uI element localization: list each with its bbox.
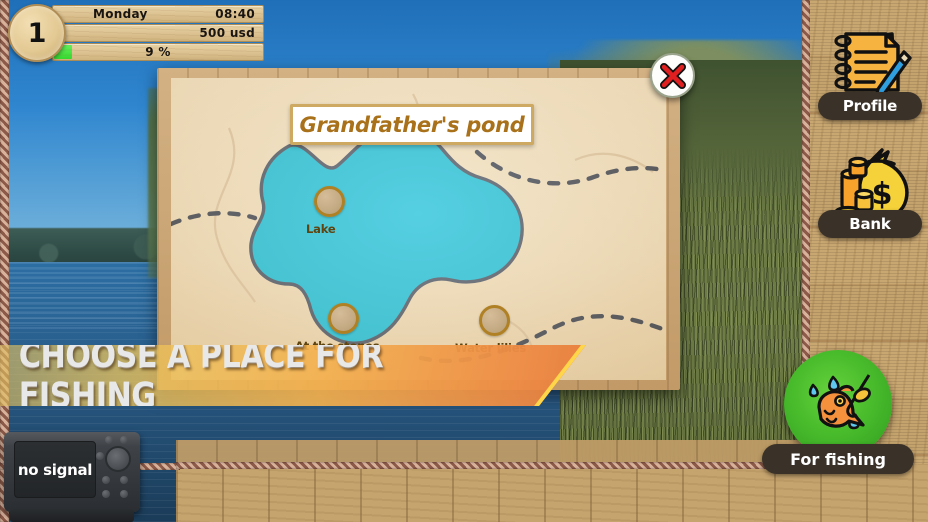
spot-label-lake: Lake xyxy=(306,222,335,236)
fish-rod-icon xyxy=(797,363,879,445)
sidebar-button-bank[interactable]: $ Bank xyxy=(816,140,924,238)
location-map-panel: Grandfather's pond Lake At the stones Wa… xyxy=(157,68,680,390)
sidebar-button-profile[interactable]: Profile xyxy=(816,22,924,120)
fish-finder-button-3[interactable] xyxy=(96,452,104,460)
fish-finder-body: no signal xyxy=(4,432,140,512)
spot-dot-icon[interactable] xyxy=(328,303,359,334)
fish-finder-button-7[interactable] xyxy=(102,490,110,498)
hud-progress-bar: 9 % xyxy=(52,43,264,61)
fish-finder-button-4[interactable] xyxy=(120,476,128,484)
hud-progress-value: 9 % xyxy=(53,45,263,59)
hud-bars: Monday 08:40 500 usd 9 % xyxy=(52,5,264,62)
for-fishing-circle[interactable] xyxy=(784,350,892,458)
hud-weekday: Monday xyxy=(93,7,148,21)
bank-label: Bank xyxy=(849,215,890,233)
profile-label: Profile xyxy=(843,97,897,115)
profile-label-pill: Profile xyxy=(818,92,922,120)
fish-finder-button-6[interactable] xyxy=(120,490,128,498)
close-button[interactable] xyxy=(650,53,695,98)
for-fishing-label-pill: For fishing xyxy=(762,444,914,474)
hud-date-bar: Monday 08:40 xyxy=(52,5,264,23)
fish-finder-status: no signal xyxy=(18,461,92,479)
day-badge: 1 xyxy=(8,4,66,62)
fish-finder-device[interactable]: no signal xyxy=(4,432,140,522)
spot-marker-lake[interactable]: Lake xyxy=(314,186,345,217)
fish-finder-screen: no signal xyxy=(14,441,96,498)
instruction-text: CHOOSE A PLACE FOR FISHING xyxy=(0,336,504,416)
hud-money: 500 usd xyxy=(199,26,255,40)
fish-finder-dpad[interactable] xyxy=(105,446,131,472)
map-parchment: Grandfather's pond Lake At the stones Wa… xyxy=(171,78,666,380)
pond-title-plaque: Grandfather's pond xyxy=(290,104,534,145)
spot-marker-at-the-stones[interactable]: At the stones xyxy=(328,303,359,334)
pond-title: Grandfather's pond xyxy=(300,113,525,137)
spot-dot-icon[interactable] xyxy=(479,305,510,336)
rope-border-mid xyxy=(176,462,816,469)
fish-finder-button-2[interactable] xyxy=(105,436,113,444)
game-screen: 1 Monday 08:40 500 usd 9 % xyxy=(0,0,928,522)
fish-finder-button-5[interactable] xyxy=(102,476,110,484)
for-fishing-label: For fishing xyxy=(790,450,886,469)
fish-finder-base xyxy=(10,509,134,522)
for-fishing-button[interactable]: For fishing xyxy=(784,350,892,474)
hud-time: 08:40 xyxy=(215,7,255,21)
svg-text:$: $ xyxy=(872,177,893,212)
instruction-banner: CHOOSE A PLACE FOR FISHING xyxy=(0,345,586,406)
fish-finder-button-1[interactable] xyxy=(120,436,128,444)
close-x-icon xyxy=(660,63,686,89)
spot-dot-icon[interactable] xyxy=(314,186,345,217)
bank-label-pill: Bank xyxy=(818,210,922,238)
hud-money-bar: 500 usd xyxy=(52,24,264,42)
hud-panel: 1 Monday 08:40 500 usd 9 % xyxy=(6,2,266,64)
spot-marker-water-lilies[interactable]: Water lilies xyxy=(479,305,510,336)
